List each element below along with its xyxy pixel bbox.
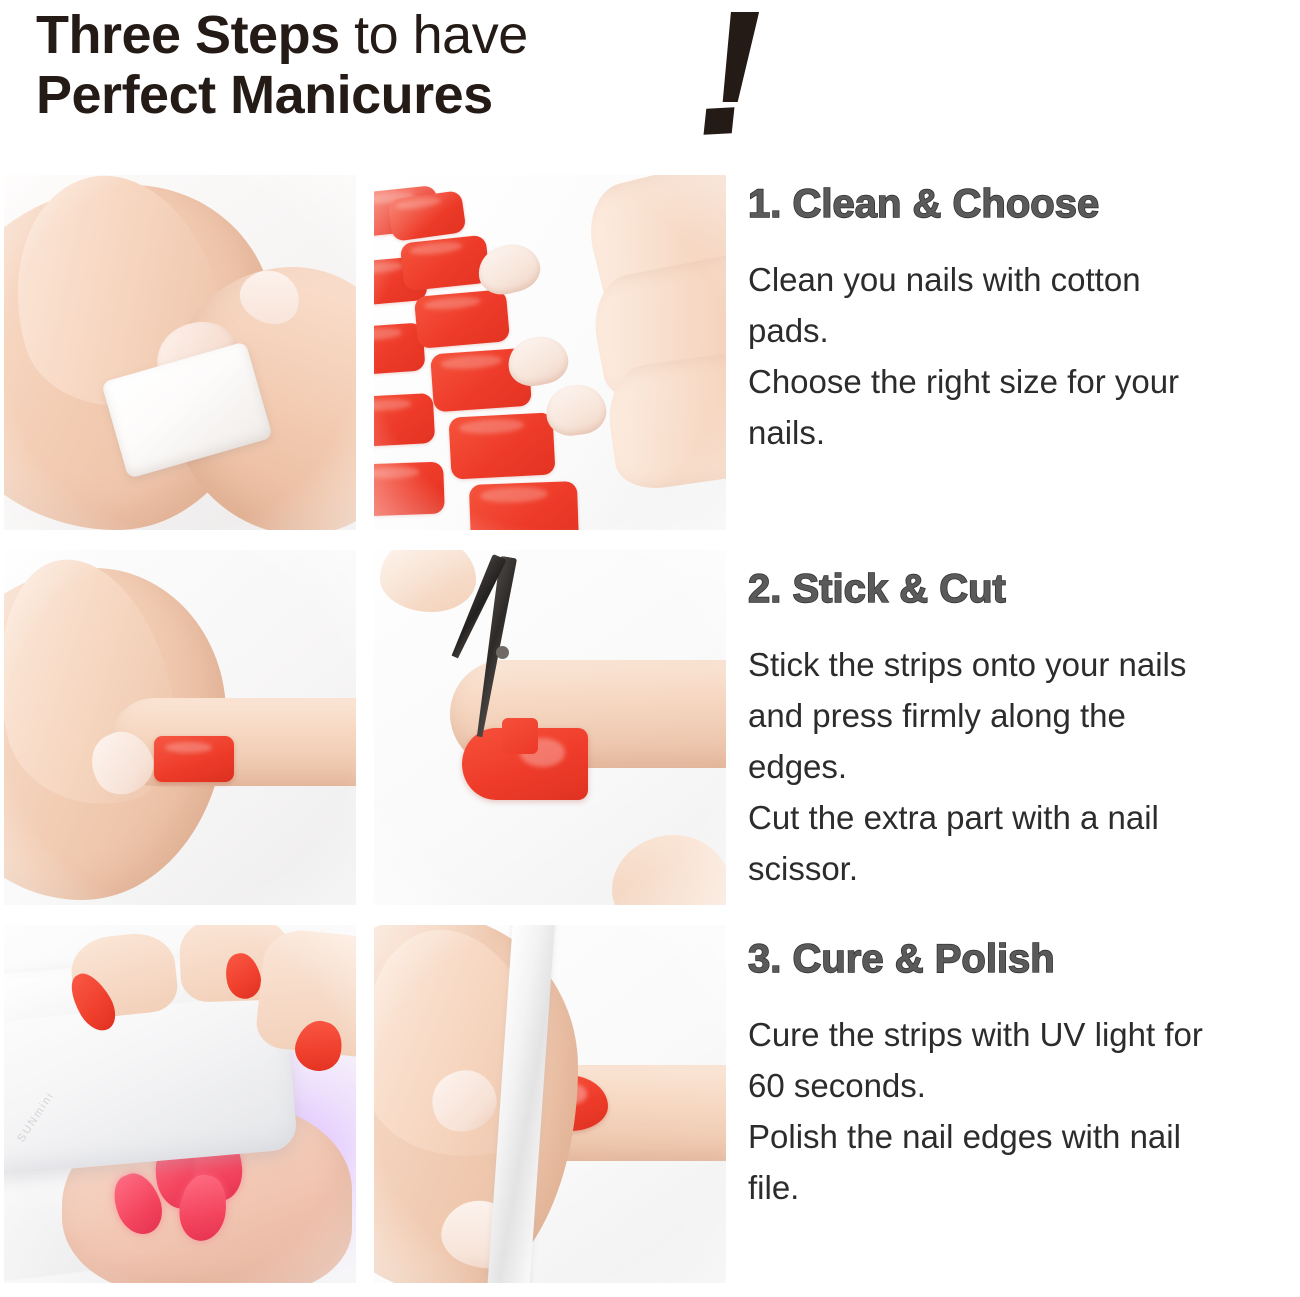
nail-strip bbox=[374, 393, 435, 447]
manicure-instruction-infographic: Three Steps to have Perfect Manicures bbox=[0, 0, 1300, 1297]
step-2-line-2: and press firmly along the bbox=[748, 690, 1294, 741]
nail-strip bbox=[414, 289, 510, 349]
step-1-line-1: Clean you nails with cotton bbox=[748, 254, 1294, 305]
lower-finger-tip bbox=[612, 835, 726, 905]
photo-clean-nail-with-cotton-pad bbox=[4, 175, 356, 530]
steps-text-column: 1. Clean & Choose Clean you nails with c… bbox=[748, 180, 1294, 1290]
title-strong-2: Perfect Manicures bbox=[36, 65, 493, 125]
step-3-line-2: 60 seconds. bbox=[748, 1060, 1294, 1111]
exclamation-bar bbox=[715, 12, 759, 102]
title-strong-1: Three Steps bbox=[36, 5, 340, 65]
step-2-line-3: edges. bbox=[748, 741, 1294, 792]
step-3-body: Cure the strips with UV light for 60 sec… bbox=[748, 1009, 1294, 1213]
step-2-body: Stick the strips onto your nails and pre… bbox=[748, 639, 1294, 894]
step-3-line-1: Cure the strips with UV light for bbox=[748, 1009, 1294, 1060]
step-1-heading: 1. Clean & Choose bbox=[748, 180, 1294, 228]
scissor-pivot-screw bbox=[496, 646, 509, 659]
red-strip-on-nail bbox=[154, 736, 234, 782]
step-1-line-2: pads. bbox=[748, 305, 1294, 356]
photo-cut-extra-with-scissors bbox=[374, 550, 726, 905]
nail-strip bbox=[448, 412, 555, 479]
title-light-1: to have bbox=[340, 5, 528, 65]
exclamation-dot bbox=[704, 107, 735, 134]
step-2-line-4: Cut the extra part with a nail bbox=[748, 792, 1294, 843]
step-block-1: 1. Clean & Choose Clean you nails with c… bbox=[748, 180, 1294, 458]
nail-strip bbox=[400, 235, 491, 292]
step-1-line-4: nails. bbox=[748, 407, 1294, 458]
exclamation-mark-icon bbox=[700, 12, 796, 140]
step-3-line-4: file. bbox=[748, 1162, 1294, 1213]
upper-finger-tip bbox=[380, 550, 476, 612]
photo-stick-strip-on-nail bbox=[4, 550, 356, 905]
nail-strip bbox=[469, 481, 579, 530]
step-block-2: 2. Stick & Cut Stick the strips onto you… bbox=[748, 565, 1294, 894]
step-2-line-5: scissor. bbox=[748, 843, 1294, 894]
step-2-line-1: Stick the strips onto your nails bbox=[748, 639, 1294, 690]
uv-lamp-brand-label: SUNmini bbox=[15, 1077, 89, 1160]
nail-strip bbox=[374, 462, 445, 517]
red-strip-excess bbox=[502, 718, 538, 754]
step-1-line-3: Choose the right size for your bbox=[748, 356, 1294, 407]
photo-red-nail-strip-sheet bbox=[374, 175, 726, 530]
step-block-3: 3. Cure & Polish Cure the strips with UV… bbox=[748, 935, 1294, 1213]
step-3-heading: 3. Cure & Polish bbox=[748, 935, 1294, 983]
photo-cure-under-uv-lamp: SUNmini bbox=[4, 925, 356, 1283]
photo-polish-edges-with-nail-file bbox=[374, 925, 726, 1283]
nail-strip bbox=[387, 190, 466, 242]
step-1-body: Clean you nails with cotton pads. Choose… bbox=[748, 254, 1294, 458]
photo-grid: SUNmini bbox=[4, 175, 730, 1293]
step-2-heading: 2. Stick & Cut bbox=[748, 565, 1294, 613]
step-3-line-3: Polish the nail edges with nail bbox=[748, 1111, 1294, 1162]
